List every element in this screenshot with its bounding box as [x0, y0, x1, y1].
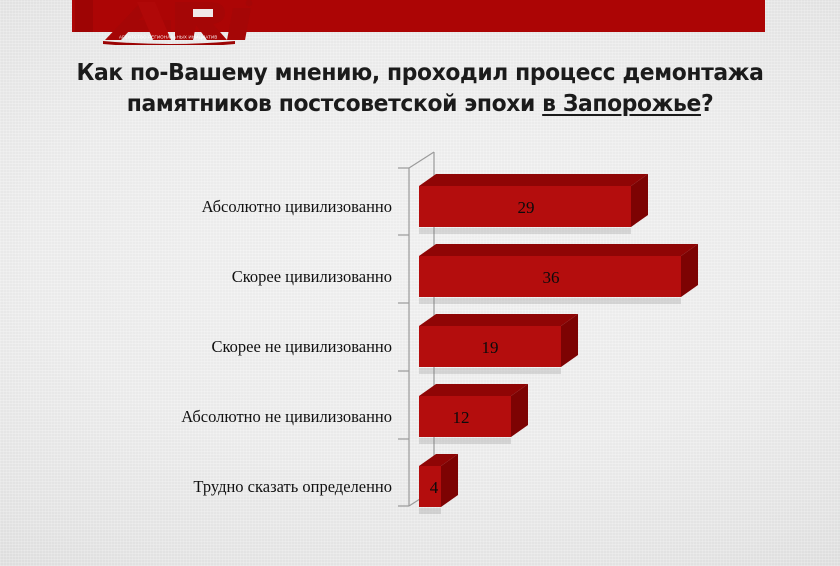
ari-logo-subtitle: АГЕНТСТВО РЕГИОНАЛЬНЫХ ИНИЦИАТИВ — [119, 34, 217, 39]
title-line-2-underlined: в Запорожье — [542, 89, 701, 117]
bar-group: 12 — [419, 384, 528, 437]
bar-top-face — [419, 384, 528, 396]
title-line-2-post: ? — [701, 89, 713, 117]
category-label: Скорее не цивилизованно — [211, 337, 392, 356]
category-label: Абсолютно цивилизованно — [202, 197, 392, 216]
bar-value-label: 29 — [518, 198, 535, 217]
bar-group: 4 — [419, 454, 458, 507]
category-axis-labels: Абсолютно цивилизованно Скорее цивилизов… — [181, 197, 392, 496]
bar-value-label: 12 — [453, 408, 470, 427]
bar-value-label: 19 — [482, 338, 499, 357]
axis-top-connector — [409, 152, 434, 168]
bar-value-label: 36 — [543, 268, 560, 287]
bar-chart-svg: Абсолютно цивилизованно Скорее цивилизов… — [0, 130, 840, 550]
title-line-1: Как по-Вашему мнению, проходил процесс д… — [76, 57, 764, 88]
bar-chart: Абсолютно цивилизованно Скорее цивилизов… — [0, 130, 840, 550]
title-line-2: памятников постсоветской эпохи в Запорож… — [76, 88, 764, 119]
bar-group: 36 — [419, 244, 698, 297]
category-label: Скорее цивилизованно — [232, 267, 392, 286]
bar-top-face — [419, 244, 698, 256]
bar-group: 29 — [419, 174, 648, 227]
bar-top-face — [419, 174, 648, 186]
category-label: Абсолютно не цивилизованно — [181, 407, 392, 426]
page-title: Как по-Вашему мнению, проходил процесс д… — [76, 57, 764, 119]
ari-logo-mark: АГЕНТСТВО РЕГИОНАЛЬНЫХ ИНИЦИАТИВ — [75, 0, 260, 45]
title-line-2-pre: памятников постсоветской эпохи — [127, 89, 542, 117]
bar-top-face — [419, 314, 578, 326]
ari-logo: АГЕНТСТВО РЕГИОНАЛЬНЫХ ИНИЦИАТИВ — [75, 0, 260, 45]
bar-value-label: 4 — [430, 478, 439, 497]
bar-group: 19 — [419, 314, 578, 367]
category-label: Трудно сказать определенно — [193, 477, 392, 496]
